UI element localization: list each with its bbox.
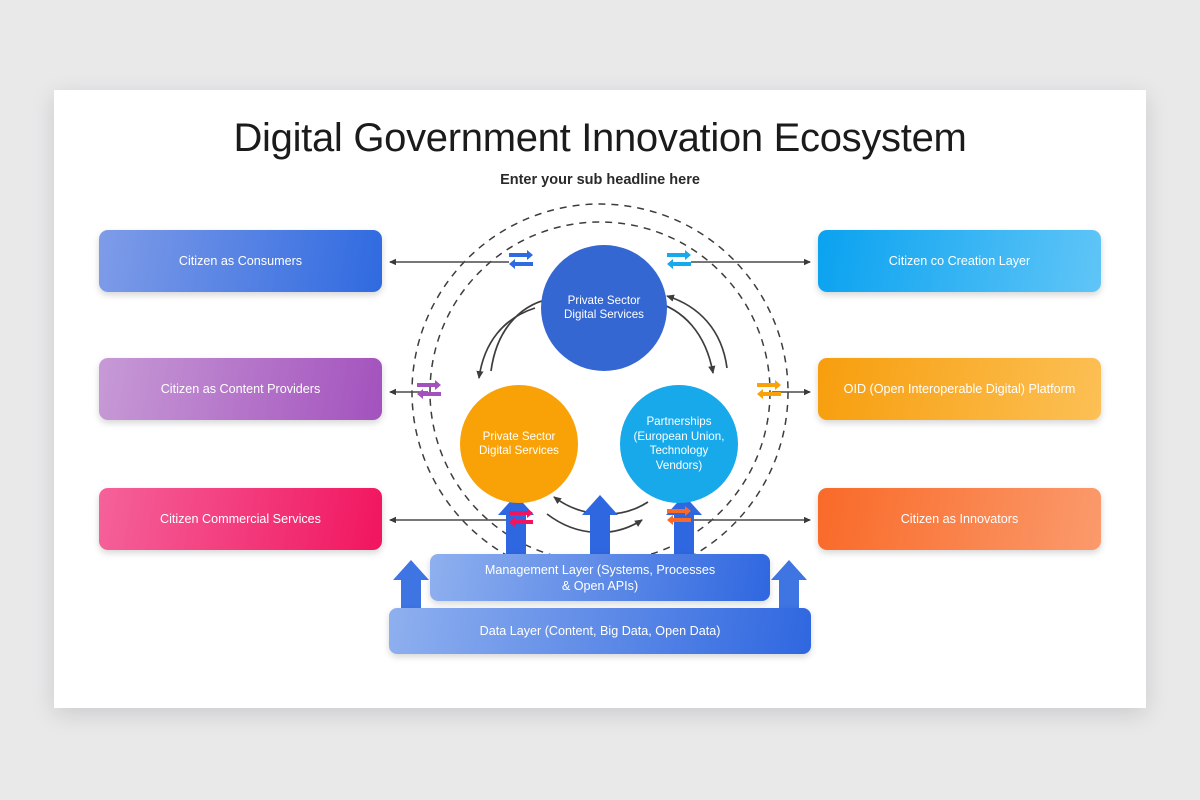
badge-cyan — [667, 250, 691, 269]
badge-pink — [509, 508, 533, 527]
page-subtitle: Enter your sub headline here — [54, 172, 1146, 188]
box-citizen-as-consumers[interactable]: Citizen as Consumers — [99, 230, 382, 292]
box-citizen-as-innovators[interactable]: Citizen as Innovators — [818, 488, 1101, 550]
box-label: Citizen as Innovators — [901, 512, 1019, 527]
box-oid-platform[interactable]: OID (Open Interoperable Digital) Platfor… — [818, 358, 1101, 420]
circle-partnerships-right[interactable]: Partnerships(European Union,TechnologyVe… — [620, 385, 738, 503]
management-layer-label: Management Layer (Systems, Processes& Op… — [485, 562, 715, 594]
box-citizen-commercial-services[interactable]: Citizen Commercial Services — [99, 488, 382, 550]
box-citizen-as-content-providers[interactable]: Citizen as Content Providers — [99, 358, 382, 420]
box-label: Citizen co Creation Layer — [889, 254, 1030, 269]
circle-label: Partnerships(European Union,TechnologyVe… — [634, 415, 725, 473]
box-label: Citizen as Consumers — [179, 254, 302, 269]
page-title: Digital Government Innovation Ecosystem — [54, 116, 1146, 161]
badge-purple — [417, 380, 441, 399]
box-label: Citizen as Content Providers — [161, 382, 321, 397]
circle-private-sector-left[interactable]: Private SectorDigital Services — [460, 385, 578, 503]
box-label: OID (Open Interoperable Digital) Platfor… — [844, 382, 1076, 397]
circle-label: Private SectorDigital Services — [479, 430, 559, 459]
circle-private-sector-top[interactable]: Private SectorDigital Services — [541, 245, 667, 371]
management-layer-box[interactable]: Management Layer (Systems, Processes& Op… — [430, 554, 770, 601]
slide-canvas: Digital Government Innovation Ecosystem … — [54, 90, 1146, 708]
box-label: Citizen Commercial Services — [160, 512, 321, 527]
data-layer-box[interactable]: Data Layer (Content, Big Data, Open Data… — [389, 608, 811, 654]
circle-label: Private SectorDigital Services — [564, 294, 644, 323]
data-layer-label: Data Layer (Content, Big Data, Open Data… — [480, 624, 721, 638]
upward-flow-arrows — [498, 495, 702, 554]
box-citizen-co-creation-layer[interactable]: Citizen co Creation Layer — [818, 230, 1101, 292]
badge-blue — [509, 250, 533, 269]
badge-orange — [757, 380, 781, 399]
badge-deeporange — [667, 506, 691, 525]
